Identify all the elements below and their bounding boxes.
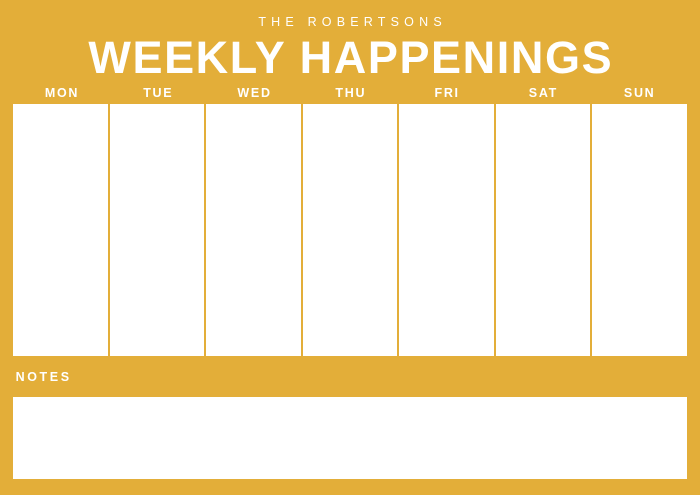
page-title: WEEKLY HAPPENINGS: [0, 32, 700, 84]
day-header-row: MON TUE WED THU FRI SAT SUN: [13, 84, 687, 103]
notes-label: NOTES: [13, 369, 687, 385]
day-entries-thu[interactable]: [303, 104, 398, 356]
day-header-sat: SAT: [494, 84, 590, 103]
weekly-planner: THE ROBERTSONS WEEKLY HAPPENINGS MON TUE…: [0, 0, 700, 495]
family-name-subtitle: THE ROBERTSONS: [0, 14, 700, 30]
day-entries-sun[interactable]: [592, 104, 687, 356]
week-grid: [13, 104, 687, 356]
day-entries-tue[interactable]: [110, 104, 205, 356]
day-column-thu[interactable]: [301, 104, 398, 356]
day-header-thu: THU: [302, 84, 398, 103]
day-header-fri: FRI: [398, 84, 494, 103]
day-column-tue[interactable]: [108, 104, 205, 356]
day-column-wed[interactable]: [204, 104, 301, 356]
day-entries-mon[interactable]: [13, 104, 108, 356]
day-column-fri[interactable]: [397, 104, 494, 356]
day-column-sun[interactable]: [590, 104, 687, 356]
day-header-sun: SUN: [591, 84, 687, 103]
day-header-mon: MON: [13, 84, 109, 103]
notes-box[interactable]: [13, 397, 687, 479]
day-entries-wed[interactable]: [206, 104, 301, 356]
day-header-tue: TUE: [109, 84, 205, 103]
planner-header: THE ROBERTSONS WEEKLY HAPPENINGS: [0, 0, 700, 84]
day-column-mon[interactable]: [13, 104, 108, 356]
day-entries-fri[interactable]: [399, 104, 494, 356]
day-column-sat[interactable]: [494, 104, 591, 356]
day-header-wed: WED: [206, 84, 302, 103]
day-entries-sat[interactable]: [496, 104, 591, 356]
